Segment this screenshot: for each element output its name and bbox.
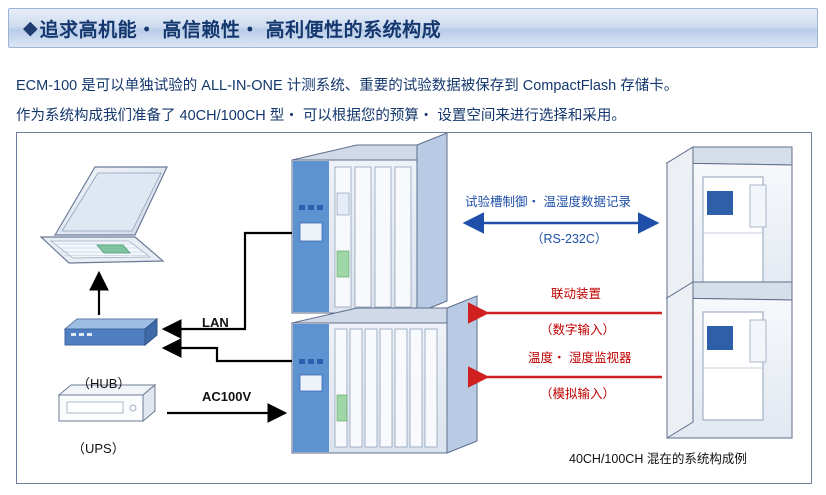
measurement-rack-bottom	[292, 296, 477, 453]
description-line-1: ECM-100 是可以单独试验的 ALL-IN-ONE 计测系统、重要的试验数据…	[16, 74, 678, 95]
test-chamber-bottom	[667, 282, 792, 438]
diagram-canvas	[17, 133, 811, 483]
label-interlock-line2: （数字输入）	[540, 319, 615, 338]
label-monitor-line2: （模拟输入）	[540, 383, 615, 402]
page-root: ◆ 追求高机能・ 高信赖性・ 高利便性的系统构成 ECM-100 是可以单独试验…	[0, 0, 826, 495]
hub-device	[65, 319, 157, 345]
system-diagram: 试验槽制御・ 温湿度数据记录 （RS-232C） 联动装置 （数字输入） 温度・…	[16, 132, 812, 484]
label-hub: （HUB）	[77, 373, 130, 392]
description-line-2: 作为系统构成我们准备了 40CH/100CH 型・ 可以根据您的预算・ 设置空间…	[16, 104, 626, 125]
laptop-device	[41, 167, 167, 263]
label-chamber-control-line1: 试验槽制御・ 温湿度数据记录	[465, 191, 631, 210]
label-system-example-note: 40CH/100CH 混在的系统构成例	[569, 448, 747, 467]
measurement-rack-top	[292, 133, 447, 313]
label-interlock-line1: 联动装置	[551, 283, 601, 302]
page-header-banner: ◆ 追求高机能・ 高信赖性・ 高利便性的系统构成	[8, 8, 818, 48]
label-ac100v: AC100V	[202, 389, 251, 404]
diamond-icon: ◆	[23, 19, 38, 38]
label-monitor-line1: 温度・ 湿度监视器	[528, 347, 631, 366]
label-ups: （UPS）	[72, 438, 125, 457]
label-chamber-control-line2: （RS-232C）	[531, 228, 607, 247]
label-lan: LAN	[202, 315, 229, 330]
test-chamber-top	[667, 147, 792, 303]
page-title: 追求高机能・ 高信赖性・ 高利便性的系统构成	[40, 15, 442, 42]
